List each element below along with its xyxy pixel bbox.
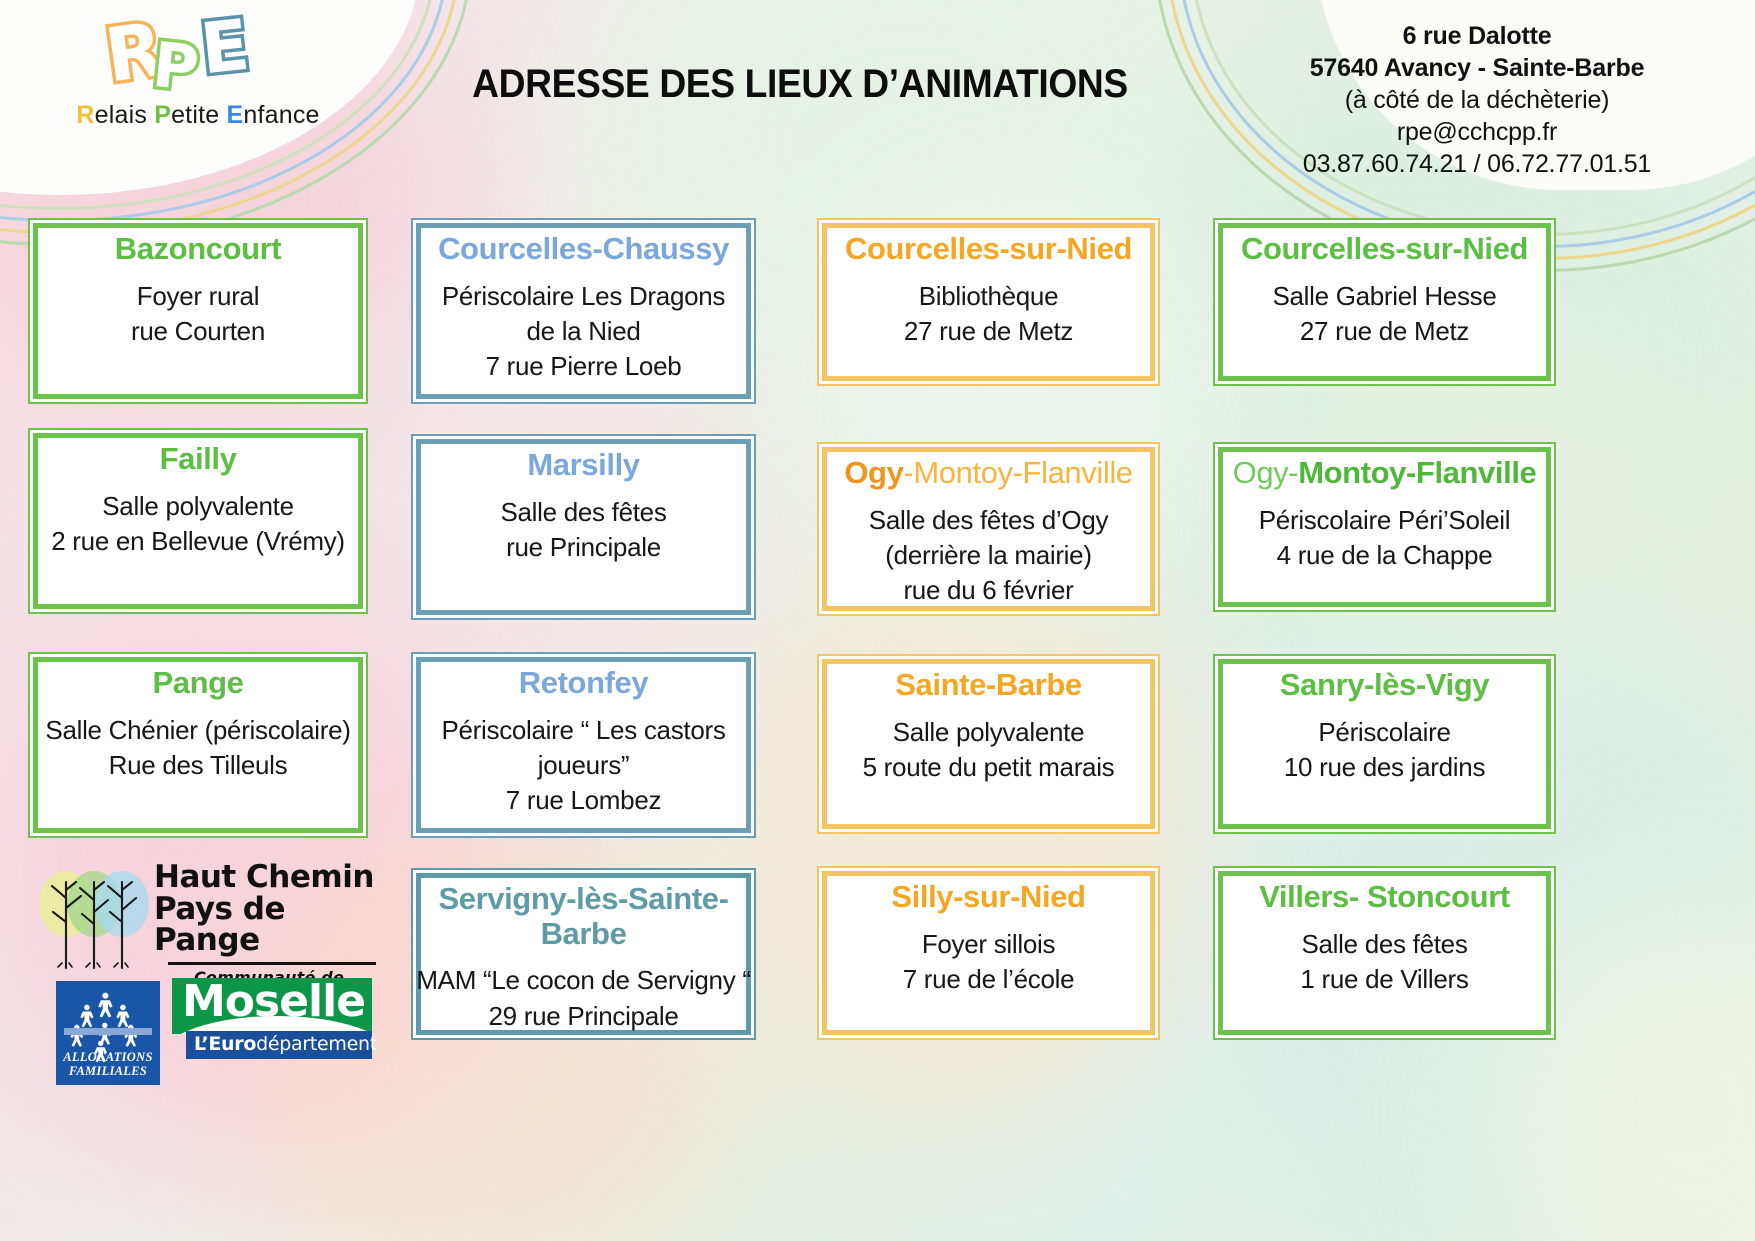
location-card-address-line: 10 rue des jardins xyxy=(1284,750,1485,785)
location-card-sanry-les-vigy: Sanry-lès-VigyPériscolaire10 rue des jar… xyxy=(1213,654,1556,834)
page-title: ADRESSE DES LIEUX D’ANIMATIONS xyxy=(442,62,1158,107)
location-card-pange: PangeSalle Chénier (périscolaire)Rue des… xyxy=(28,652,368,838)
location-card-bazoncourt: BazoncourtFoyer ruralrue Courten xyxy=(28,218,368,404)
haut-chemin-divider xyxy=(168,962,376,965)
location-card-address-line: rue Courten xyxy=(131,314,265,349)
location-card-address-line: de la Nied xyxy=(442,314,725,349)
location-card-address-line: rue du 6 février xyxy=(869,573,1108,608)
location-card-title-part: Ogy xyxy=(844,455,903,490)
location-card-title: Bazoncourt xyxy=(115,232,282,267)
location-card-address: Périscolaire Les Dragonsde la Nied7 rue … xyxy=(442,279,725,385)
location-card-address-line: MAM “Le cocon de Servigny “ xyxy=(416,963,750,998)
location-card-courcelles-chaussy: Courcelles-ChaussyPériscolaire Les Drago… xyxy=(411,218,756,404)
location-card-address-line: Foyer sillois xyxy=(903,927,1075,962)
location-card-sainte-barbe: Sainte-BarbeSalle polyvalente5 route du … xyxy=(817,654,1160,834)
location-card-title: Pange xyxy=(152,666,243,701)
rpe-letter-e: EE xyxy=(197,4,253,91)
location-card-courcelles-sur-nied-gabriel-hesse: Courcelles-sur-NiedSalle Gabriel Hesse27… xyxy=(1213,218,1556,386)
location-card-address: Salle Gabriel Hesse27 rue de Metz xyxy=(1272,279,1496,350)
location-card-title: Ogy-Montoy-Flanville xyxy=(844,456,1132,491)
location-card-address-line: Salle des fêtes xyxy=(500,495,666,530)
contact-city: 57640 Avancy - Sainte-Barbe xyxy=(1217,52,1737,84)
location-card-address-line: Salle Gabriel Hesse xyxy=(1272,279,1496,314)
location-card-title: Villers- Stoncourt xyxy=(1259,880,1510,915)
location-card-silly-sur-nied: Silly-sur-NiedFoyer sillois7 rue de l’éc… xyxy=(817,866,1160,1040)
location-card-address-line: Salle Chénier (périscolaire) xyxy=(45,713,350,748)
location-card-address-line: rue Principale xyxy=(500,530,666,565)
location-card-title: Sanry-lès-Vigy xyxy=(1280,668,1489,703)
moselle-logo: Moselle L’Eurodépartement xyxy=(172,978,372,1060)
location-card-title: Courcelles-sur-Nied xyxy=(845,232,1132,267)
location-card-title: Courcelles-Chaussy xyxy=(438,232,729,267)
location-card-address-line: 7 rue Pierre Loeb xyxy=(442,349,725,384)
location-card-address: Salle des fêtesrue Principale xyxy=(500,495,666,566)
location-card-title: Silly-sur-Nied xyxy=(891,880,1085,915)
location-card-address: Périscolaire “ Les castorsjoueurs”7 rue … xyxy=(441,713,725,819)
location-card-address-line: joueurs” xyxy=(441,748,725,783)
location-card-address-line: 4 rue de la Chappe xyxy=(1259,538,1510,573)
location-card-servigny-les-sainte-barbe: Servigny-lès-Sainte-BarbeMAM “Le cocon d… xyxy=(411,868,756,1040)
location-card-title: Retonfey xyxy=(519,666,648,701)
caf-line2: FAMILIALES xyxy=(56,1064,160,1078)
rpe-logo-subtitle: Relais Petite Enfance xyxy=(18,101,378,130)
location-card-address-line: 7 rue de l’école xyxy=(903,962,1075,997)
location-card-address: Salle polyvalente5 route du petit marais xyxy=(863,715,1115,786)
caf-line1: ALLOCATIONS xyxy=(56,1050,160,1064)
location-card-address-line: (derrière la mairie) xyxy=(869,538,1108,573)
three-trees-icon xyxy=(36,864,156,970)
contact-phones[interactable]: 03.87.60.74.21 / 06.72.77.01.51 xyxy=(1217,148,1737,180)
moselle-tagline: L’Eurodépartement xyxy=(194,1033,377,1055)
location-card-address: Foyer ruralrue Courten xyxy=(131,279,265,350)
location-card-address: Salle des fêtes1 rue de Villers xyxy=(1300,927,1468,998)
location-card-title: Servigny-lès-Sainte-Barbe xyxy=(423,882,744,951)
location-card-address: Salle polyvalente2 rue en Bellevue (Vrém… xyxy=(51,489,345,560)
location-card-address-line: Salle des fêtes d’Ogy xyxy=(869,503,1108,538)
location-card-address-line: Rue des Tilleuls xyxy=(45,748,350,783)
caf-allocations-familiales-logo: ALLOCATIONS FAMILIALES xyxy=(56,981,160,1085)
haut-chemin-pays-de-pange-logo: Haut Chemin Pays de Pange Communauté de … xyxy=(36,862,376,972)
contact-block: 6 rue Dalotte 57640 Avancy - Sainte-Barb… xyxy=(1217,20,1737,180)
location-card-address-line: Périscolaire “ Les castors xyxy=(441,713,725,748)
location-card-address-line: 5 route du petit marais xyxy=(863,750,1115,785)
location-card-address: MAM “Le cocon de Servigny “29 rue Princi… xyxy=(416,963,750,1034)
location-card-courcelles-sur-nied-bibliotheque: Courcelles-sur-NiedBibliothèque27 rue de… xyxy=(817,218,1160,386)
location-card-title: Ogy-Montoy-Flanville xyxy=(1233,456,1537,491)
location-card-address: Périscolaire10 rue des jardins xyxy=(1284,715,1485,786)
rpe-letter-p: PP xyxy=(149,28,202,105)
location-card-address-line: 27 rue de Metz xyxy=(904,314,1073,349)
location-card-address: Périscolaire Péri’Soleil4 rue de la Chap… xyxy=(1259,503,1510,574)
location-card-address-line: Salle polyvalente xyxy=(51,489,345,524)
location-card-address-line: Bibliothèque xyxy=(904,279,1073,314)
location-card-failly: FaillySalle polyvalente2 rue en Bellevue… xyxy=(28,428,368,614)
location-card-address: Bibliothèque27 rue de Metz xyxy=(904,279,1073,350)
location-card-ogy-montoy-flanville-salle: Ogy-Montoy-FlanvilleSalle des fêtes d’Og… xyxy=(817,442,1160,616)
location-card-address-line: Périscolaire Péri’Soleil xyxy=(1259,503,1510,538)
location-card-address-line: 29 rue Principale xyxy=(416,999,750,1034)
location-card-address-line: Périscolaire Les Dragons xyxy=(442,279,725,314)
location-card-address-line: Foyer rural xyxy=(131,279,265,314)
location-card-address-line: Périscolaire xyxy=(1284,715,1485,750)
location-card-title: Sainte-Barbe xyxy=(895,668,1081,703)
location-card-title-part: -Montoy-Flanville xyxy=(903,455,1132,490)
location-card-address-line: Salle des fêtes xyxy=(1300,927,1468,962)
location-card-title: Courcelles-sur-Nied xyxy=(1241,232,1528,267)
location-card-title-part: Montoy-Flanville xyxy=(1298,455,1536,490)
location-card-address-line: 27 rue de Metz xyxy=(1272,314,1496,349)
location-card-address-line: 7 rue Lombez xyxy=(441,783,725,818)
location-card-villers-stoncourt: Villers- StoncourtSalle des fêtes1 rue d… xyxy=(1213,866,1556,1040)
haut-chemin-line1: Haut Chemin xyxy=(154,862,384,894)
location-card-title: Marsilly xyxy=(527,448,639,483)
rpe-logo: RR PP EE Relais Petite Enfance xyxy=(18,4,378,164)
rpe-logo-letters: RR PP EE xyxy=(18,4,378,99)
location-card-title-part: Ogy- xyxy=(1233,455,1299,490)
haut-chemin-line2: Pays de Pange xyxy=(154,894,384,957)
location-card-ogy-montoy-flanville-periscolaire: Ogy-Montoy-FlanvillePériscolaire Péri’So… xyxy=(1213,442,1556,612)
location-card-address-line: 2 rue en Bellevue (Vrémy) xyxy=(51,524,345,559)
location-card-address: Salle des fêtes d’Ogy(derrière la mairie… xyxy=(869,503,1108,609)
contact-note: (à côté de la déchèterie) xyxy=(1217,84,1737,116)
contact-street: 6 rue Dalotte xyxy=(1217,20,1737,52)
location-card-address-line: 1 rue de Villers xyxy=(1300,962,1468,997)
contact-email[interactable]: rpe@cchcpp.fr xyxy=(1217,116,1737,148)
location-card-address: Salle Chénier (périscolaire)Rue des Till… xyxy=(45,713,350,784)
location-card-retonfey: RetonfeyPériscolaire “ Les castorsjoueur… xyxy=(411,652,756,838)
location-card-address: Foyer sillois7 rue de l’école xyxy=(903,927,1075,998)
location-card-marsilly: MarsillySalle des fêtesrue Principale xyxy=(411,434,756,620)
location-card-title: Failly xyxy=(160,442,237,477)
location-card-address-line: Salle polyvalente xyxy=(863,715,1115,750)
